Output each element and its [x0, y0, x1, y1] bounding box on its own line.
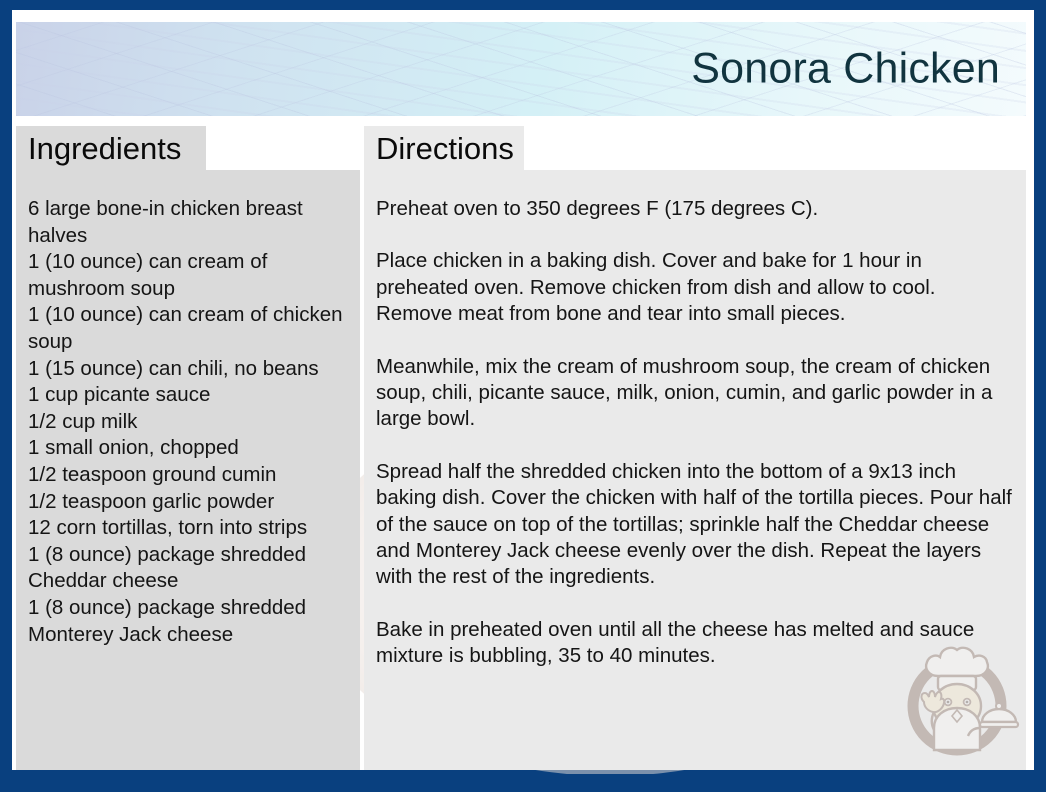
directions-column: Directions Preheat oven to 350 degrees F…	[364, 126, 1026, 770]
page-title: Sonora Chicken	[691, 45, 1000, 94]
list-item: 1 (15 ounce) can chili, no beans	[28, 356, 346, 383]
directions-heading: Directions	[376, 133, 514, 164]
title-banner: Sonora Chicken	[16, 22, 1026, 116]
recipe-card-slide: Sonora Chicken	[0, 0, 1046, 792]
list-item: 6 large bone-in chicken breast halves	[28, 196, 346, 249]
list-item: 1/2 teaspoon garlic powder	[28, 489, 346, 516]
ingredients-panel: 6 large bone-in chicken breast halves 1 …	[16, 170, 360, 770]
direction-step: Spread half the shredded chicken into th…	[376, 459, 1012, 591]
list-item: 1 (10 ounce) can cream of chicken soup	[28, 302, 346, 355]
direction-step: Preheat oven to 350 degrees F (175 degre…	[376, 196, 1012, 222]
list-item: 1/2 cup milk	[28, 409, 346, 436]
list-item: 1 (10 ounce) can cream of mushroom soup	[28, 249, 346, 302]
directions-list: Preheat oven to 350 degrees F (175 degre…	[376, 196, 1012, 670]
ingredients-list: 6 large bone-in chicken breast halves 1 …	[28, 196, 346, 648]
direction-step: Meanwhile, mix the cream of mushroom sou…	[376, 354, 1012, 433]
list-item: 1/2 teaspoon ground cumin	[28, 462, 346, 489]
direction-step: Place chicken in a baking dish. Cover an…	[376, 248, 1012, 327]
slide-content-area: Sonora Chicken	[12, 10, 1034, 770]
direction-step: Bake in preheated oven until all the che…	[376, 617, 1012, 670]
list-item: 1 cup picante sauce	[28, 382, 346, 409]
list-item: 1 (8 ounce) package shredded Monterey Ja…	[28, 595, 346, 648]
ingredients-column: Ingredients 6 large bone-in chicken brea…	[16, 126, 360, 770]
directions-panel: Preheat oven to 350 degrees F (175 degre…	[364, 170, 1026, 770]
list-item: 12 corn tortillas, torn into strips	[28, 515, 346, 542]
ingredients-heading: Ingredients	[28, 133, 181, 164]
list-item: 1 small onion, chopped	[28, 435, 346, 462]
list-item: 1 (8 ounce) package shredded Cheddar che…	[28, 542, 346, 595]
ingredients-heading-tab: Ingredients	[16, 126, 206, 170]
directions-heading-tab: Directions	[364, 126, 524, 170]
